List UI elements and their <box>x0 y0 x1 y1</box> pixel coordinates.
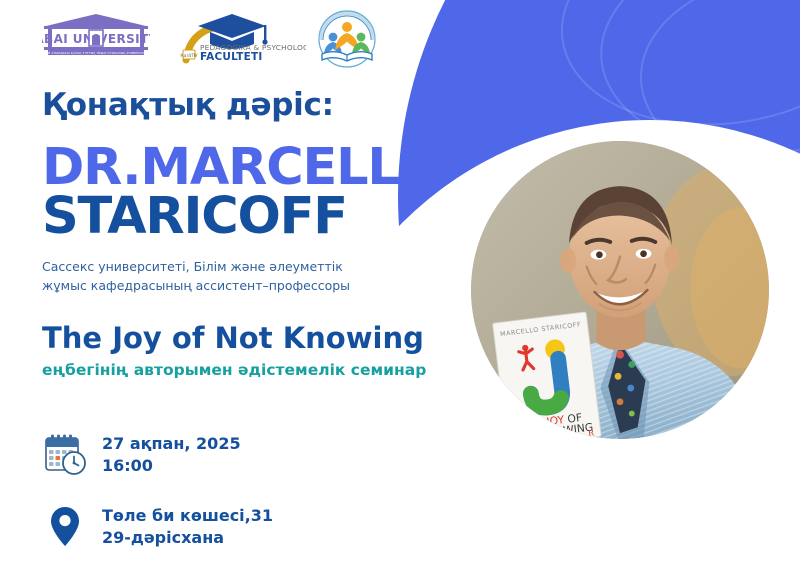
location-pin-icon <box>42 504 88 550</box>
date-time-text: 27 ақпан, 2025 16:00 <box>102 433 241 476</box>
poster-root: MARCELLO STARICOFF THE JOY OF N <box>0 0 800 580</box>
book-page-arc <box>547 0 800 146</box>
venue-text: Төле би көшесі,31 29-дәрісхана <box>102 505 273 548</box>
event-details: 27 ақпан, 2025 16:00 Төле би көшесі,31 2… <box>42 432 422 576</box>
svg-text:АБАЙ АТЫНДАҒЫ ҚАЗАҚ ҰЛТТЫҚ ПЕД: АБАЙ АТЫНДАҒЫ ҚАЗАҚ ҰЛТТЫҚ ПЕДАГОГИКАЛЫҚ… <box>42 50 150 55</box>
svg-text:FACULTETI: FACULTETI <box>200 51 262 63</box>
speaker-portrait: MARCELLO STARICOFF THE JOY OF N <box>468 138 772 442</box>
speaker-portrait-image: MARCELLO STARICOFF THE JOY OF N <box>471 141 769 439</box>
venue-row: Төле би көшесі,31 29-дәрісхана <box>42 504 422 550</box>
book-title: The Joy of Not Knowing <box>42 323 472 353</box>
event-date: 27 ақпан, 2025 <box>102 434 241 453</box>
date-time-row: 27 ақпан, 2025 16:00 <box>42 432 422 478</box>
speaker-name-line-1: DR.MARCELLO <box>42 143 472 192</box>
main-content: Қонақтық дәріс: DR.MARCELLO STARICOFF Са… <box>42 90 472 379</box>
seminar-description: еңбегінің авторымен әдістемелік семинар <box>42 361 472 380</box>
venue-room: 29-дәрісхана <box>102 527 273 549</box>
calendar-clock-icon <box>42 432 88 478</box>
speaker-name-line-2: STARICOFF <box>42 192 472 241</box>
institute-emblem-logo <box>312 10 382 72</box>
lecture-kicker: Қонақтық дәріс: <box>42 90 472 121</box>
pedagogika-psychologia-faculty-logo: ҚазҰПУ PEDAGOGIKA & PSYCHOLOGIA FACULTET… <box>180 8 306 68</box>
svg-text:ҚазҰПУ: ҚазҰПУ <box>180 53 197 59</box>
abai-university-logo-icon: ABAI UNIVERSITY АБАЙ АТЫНДАҒЫ ҚАЗАҚ ҰЛТТ… <box>42 12 150 58</box>
event-time: 16:00 <box>102 455 241 477</box>
abai-university-logo: ABAI UNIVERSITY АБАЙ АТЫНДАҒЫ ҚАЗАҚ ҰЛТТ… <box>42 12 150 62</box>
venue-address: Төле би көшесі,31 <box>102 506 273 525</box>
speaker-affiliation: Сассекс университеті, Білім және әлеумет… <box>42 258 372 296</box>
svg-text:NOT KNOWING: NOT KNOWING <box>513 421 594 439</box>
header-logos: ABAI UNIVERSITY АБАЙ АТЫНДАҒЫ ҚАЗАҚ ҰЛТТ… <box>0 0 440 80</box>
institute-emblem-icon <box>312 10 382 68</box>
graduation-cap-icon: ҚазҰПУ PEDAGOGIKA & PSYCHOLOGIA FACULTET… <box>180 8 306 64</box>
